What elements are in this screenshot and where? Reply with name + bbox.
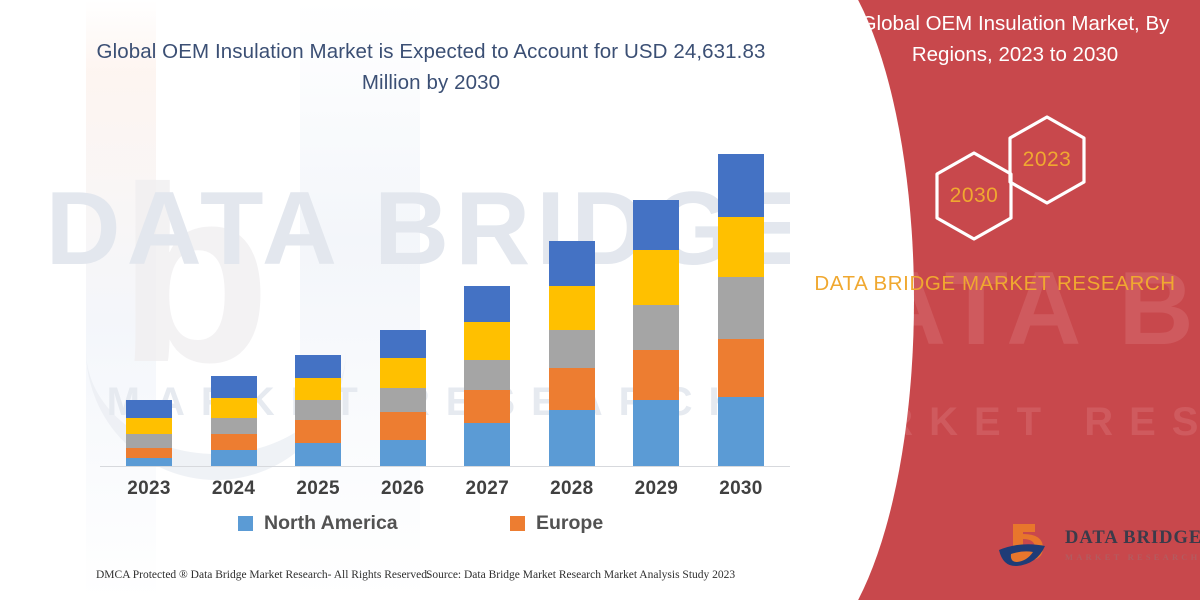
legend-item-north-america[interactable]: North America <box>238 512 398 535</box>
bar-segment <box>464 423 510 466</box>
bar-segment <box>295 355 341 378</box>
x-axis-label-2028: 2028 <box>533 478 611 504</box>
bar-segment <box>211 376 257 398</box>
stacked-bar-2029 <box>633 200 679 466</box>
bar-slot <box>533 241 611 466</box>
stacked-bar-chart <box>110 130 780 466</box>
bar-segment <box>633 250 679 305</box>
legend-label: Europe <box>536 512 603 535</box>
bar-segment <box>633 305 679 350</box>
bar-segment <box>211 434 257 450</box>
x-axis-label-2023: 2023 <box>110 478 188 504</box>
footer-dmca-text: DMCA Protected ® Data Bridge Market Rese… <box>96 569 430 581</box>
bar-segment <box>380 358 426 388</box>
logo-line-1: DATA BRIDGE <box>1065 528 1200 549</box>
bar-segment <box>549 368 595 410</box>
bar-segment <box>211 398 257 418</box>
bar-segment <box>380 330 426 358</box>
left-chart-panel: b DATA BRIDGE MARKET RESEARCH Global OEM… <box>0 0 860 600</box>
bar-segment <box>211 450 257 466</box>
bar-segment <box>718 154 764 217</box>
bar-segment <box>633 200 679 250</box>
x-axis-label-2029: 2029 <box>617 478 695 504</box>
bar-segment <box>211 418 257 434</box>
bar-slot <box>195 376 273 466</box>
bar-segment <box>549 286 595 330</box>
bar-segment <box>295 400 341 420</box>
bar-slot <box>110 400 188 466</box>
legend-item-europe[interactable]: Europe <box>510 512 603 535</box>
chart-baseline-axis <box>100 466 790 467</box>
bar-segment <box>126 400 172 418</box>
bar-segment <box>295 378 341 400</box>
bar-slot <box>279 355 357 466</box>
bar-segment <box>633 400 679 466</box>
bar-segment <box>718 339 764 397</box>
bar-slot <box>702 154 780 466</box>
data-bridge-b-mark-icon <box>995 520 1057 576</box>
bar-slot <box>364 330 442 466</box>
bar-segment <box>549 241 595 286</box>
bar-segment <box>126 434 172 448</box>
hexagon-2030-label: 2030 <box>932 150 1016 242</box>
legend-swatch-icon <box>510 516 525 531</box>
x-axis-label-2026: 2026 <box>364 478 442 504</box>
bar-segment <box>718 397 764 466</box>
bar-segment <box>464 390 510 423</box>
x-axis-label-2027: 2027 <box>448 478 526 504</box>
bar-slot <box>617 200 695 466</box>
page-title: Global OEM Insulation Market is Expected… <box>96 36 766 98</box>
legend-swatch-icon <box>238 516 253 531</box>
stacked-bar-2026 <box>380 330 426 466</box>
bar-segment <box>380 388 426 412</box>
bar-slot <box>448 286 526 466</box>
chart-legend: North AmericaEurope <box>110 512 780 542</box>
bar-segment <box>380 440 426 466</box>
stacked-bar-2023 <box>126 400 172 466</box>
bar-segment <box>718 217 764 277</box>
bar-segment <box>464 286 510 322</box>
bar-segment <box>126 418 172 434</box>
x-axis-label-2024: 2024 <box>195 478 273 504</box>
x-axis-label-2025: 2025 <box>279 478 357 504</box>
bar-segment <box>126 458 172 466</box>
bar-segment <box>295 420 341 443</box>
bar-segment <box>295 443 341 466</box>
hexagon-group: 2023 2030 <box>790 110 1200 240</box>
logo-line-2: MARKET RESEARCH <box>1065 552 1200 562</box>
hexagon-2023-label: 2023 <box>1005 114 1089 206</box>
legend-label: North America <box>264 512 398 535</box>
infographic-canvas: b DATA BRIDGE MARKET RESEARCH Global OEM… <box>0 0 1200 600</box>
bar-segment <box>633 350 679 400</box>
logo-wordmark: DATA BRIDGE MARKET RESEARCH <box>1065 528 1200 562</box>
stacked-bar-2028 <box>549 241 595 466</box>
bar-segment <box>380 412 426 440</box>
bar-segment <box>549 330 595 368</box>
x-axis-label-2030: 2030 <box>702 478 780 504</box>
bar-segment <box>549 410 595 466</box>
hexagon-2030: 2030 <box>932 150 1016 242</box>
footer-source-text: Source: Data Bridge Market Research Mark… <box>426 569 735 581</box>
right-panel-title: Global OEM Insulation Market, By Regions… <box>840 8 1190 70</box>
data-bridge-logo: DATA BRIDGE MARKET RESEARCH <box>995 518 1185 580</box>
bar-segment <box>718 277 764 339</box>
hexagon-2023: 2023 <box>1005 114 1089 206</box>
right-brand-panel: DATA BRIDGE MARKET RESEARCH Global OEM I… <box>790 0 1200 600</box>
brand-name-text: DATA BRIDGE MARKET RESEARCH <box>810 268 1180 299</box>
stacked-bar-2027 <box>464 286 510 466</box>
footer: DMCA Protected ® Data Bridge Market Rese… <box>0 560 860 600</box>
chart-x-axis-labels: 20232024202520262027202820292030 <box>110 478 780 504</box>
stacked-bar-2025 <box>295 355 341 466</box>
bar-segment <box>464 360 510 390</box>
stacked-bar-2024 <box>211 376 257 466</box>
bar-segment <box>126 448 172 458</box>
bar-segment <box>464 322 510 360</box>
stacked-bar-2030 <box>718 154 764 466</box>
